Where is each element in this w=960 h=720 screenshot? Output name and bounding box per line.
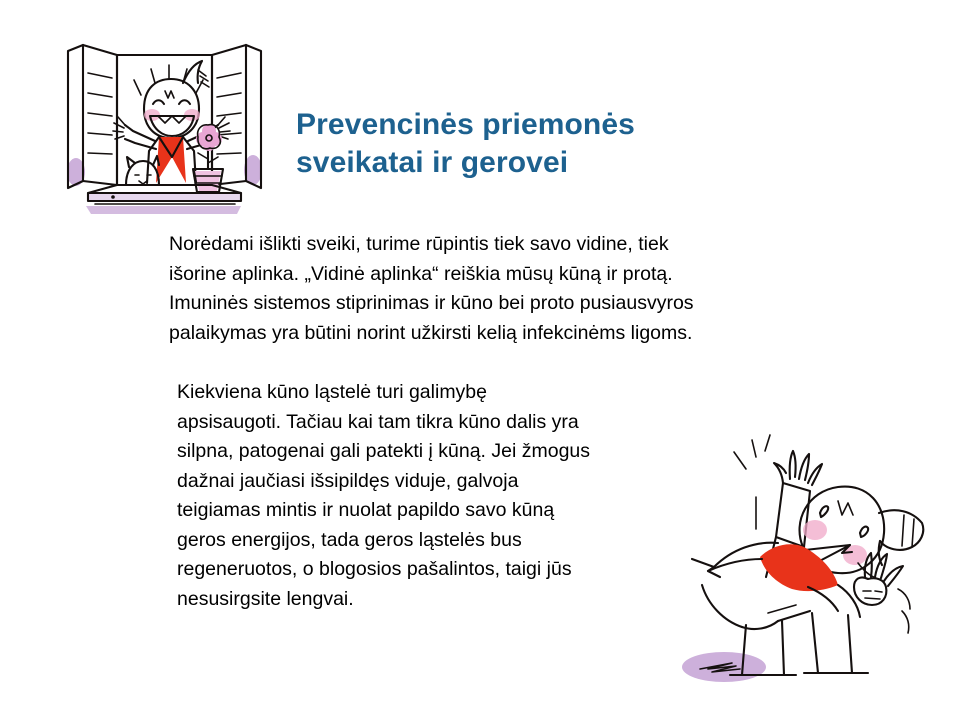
- cells-paragraph-line-3: silpna, patogenai gali patekti į kūną. J…: [177, 437, 717, 467]
- exercise-illustration-svg: [672, 425, 960, 705]
- intro-paragraph-line-4: palaikymas yra būtini norint užkirsti ke…: [169, 319, 829, 349]
- window-illustration-svg: [55, 33, 275, 218]
- cells-paragraph-line-8: nesusirgsite lengvai.: [177, 585, 717, 615]
- presentation-slide: Prevencinės priemonės sveikatai ir gerov…: [0, 0, 960, 720]
- motion-lines: [734, 435, 770, 529]
- page-title-line-1: Prevencinės priemonės: [296, 106, 716, 144]
- window-person-head: [144, 61, 209, 138]
- cells-paragraph-line-4: dažnai jaučiasi išsipildęs viduje, galvo…: [177, 467, 717, 497]
- intro-paragraph: Norėdami išlikti sveiki, turime rūpintis…: [169, 230, 829, 348]
- cat: [126, 156, 159, 185]
- cells-paragraph-line-5: teigiamas mintis ir nuolat papildo savo …: [177, 496, 717, 526]
- ponytail: [879, 510, 924, 565]
- exercise-person-torso: [692, 543, 860, 629]
- cells-paragraph-line-6: geros energijos, tada geros ląstelės bus: [177, 526, 717, 556]
- page-title: Prevencinės priemonės sveikatai ir gerov…: [296, 106, 716, 182]
- cells-paragraph-line-7: regeneruotos, o blogosios pašalintos, ta…: [177, 555, 717, 585]
- happy-person-at-open-window-illustration: [55, 33, 275, 218]
- intro-paragraph-line-1: Norėdami išlikti sveiki, turime rūpintis…: [169, 230, 829, 260]
- cells-paragraph-line-1: Kiekviena kūno ląstelė turi galimybę: [177, 378, 717, 408]
- intro-paragraph-line-3: Imuninės sistemos stiprinimas ir kūno be…: [169, 289, 829, 319]
- cells-paragraph: Kiekviena kūno ląstelė turi galimybę aps…: [177, 378, 717, 614]
- cells-paragraph-line-2: apsisaugoti. Tačiau kai tam tikra kūno d…: [177, 408, 717, 438]
- potted-flower: [193, 124, 223, 192]
- page-title-line-2: sveikatai ir gerovei: [296, 144, 716, 182]
- person-stretching-exercise-illustration: [672, 425, 960, 705]
- intro-paragraph-line-2: išorine aplinka. „Vidinė aplinka“ reiški…: [169, 260, 829, 290]
- flower-head: [196, 124, 222, 151]
